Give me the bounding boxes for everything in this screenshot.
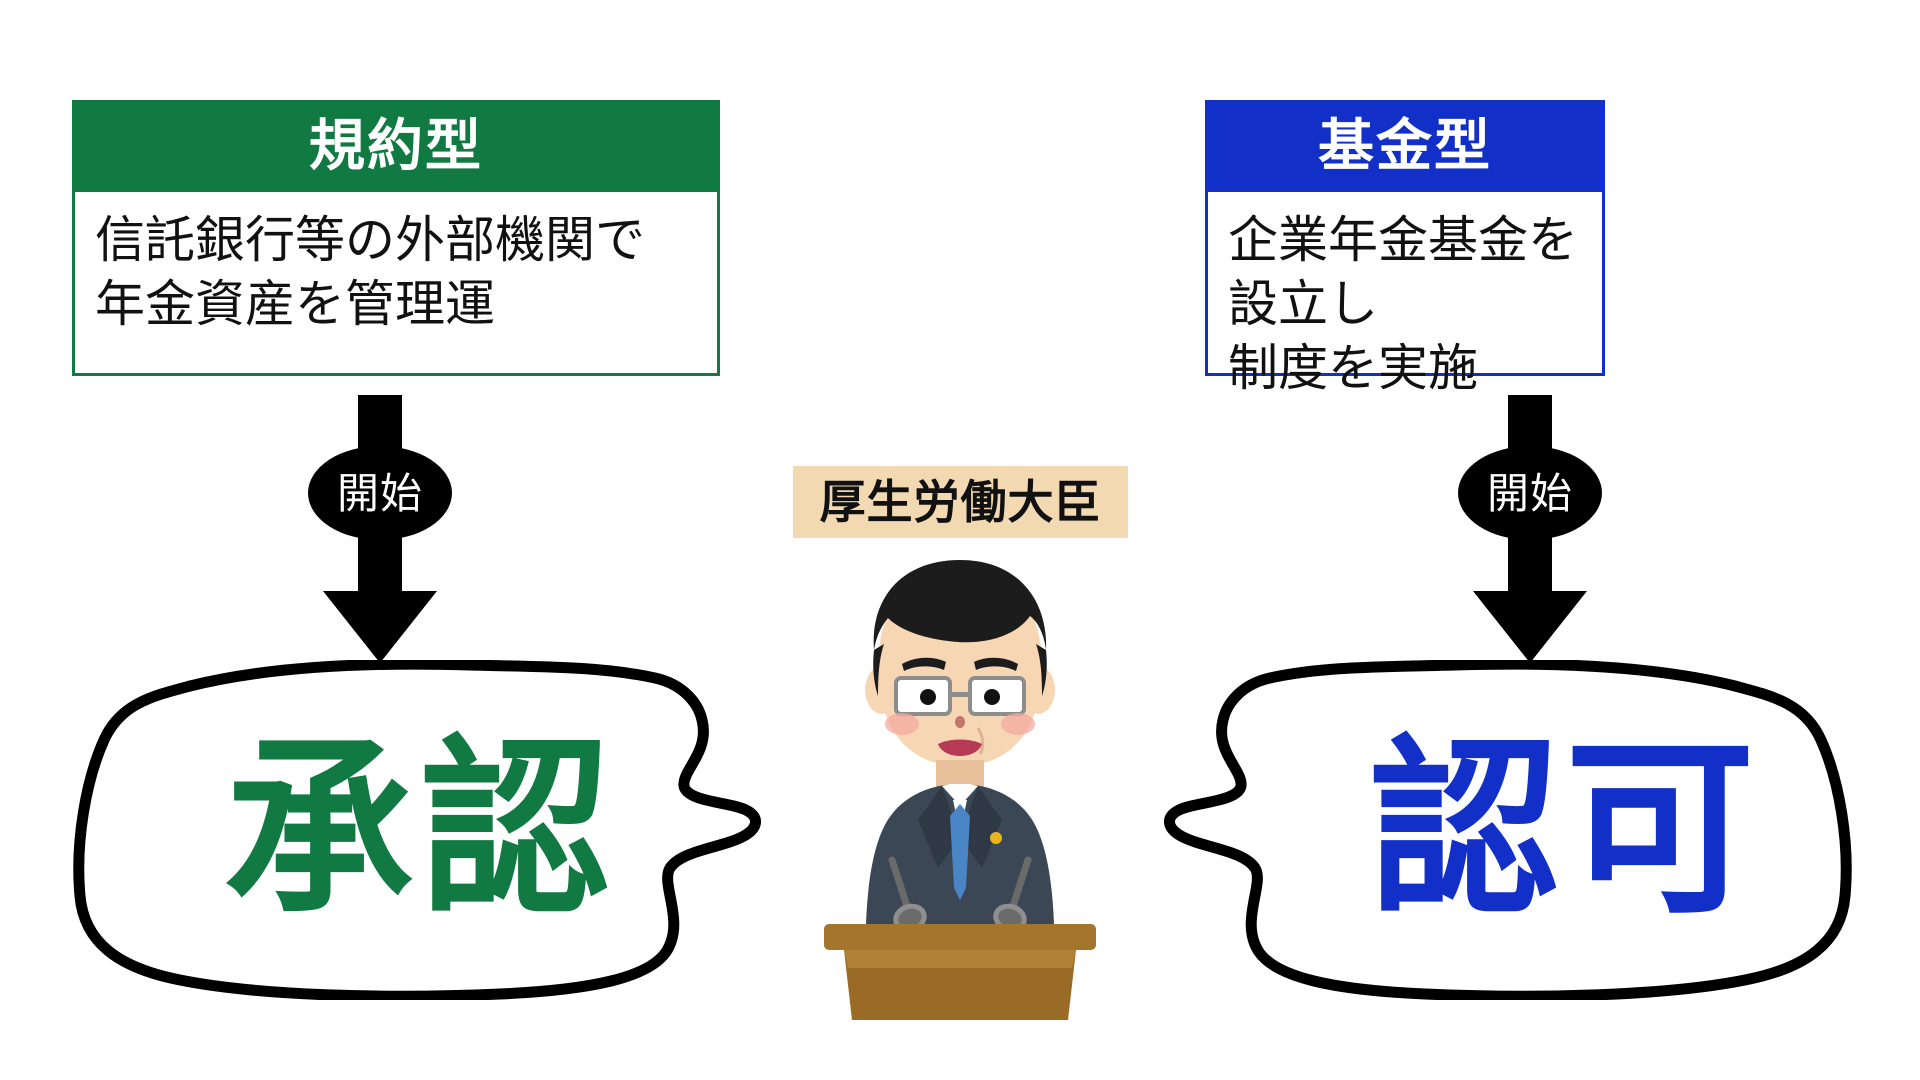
panel-kiyaku-header-label: 規約型 [309, 118, 483, 174]
panel-kiyaku-body: 信託銀行等の外部機関で 年金資産を管理運 [72, 192, 720, 376]
arrow-down-left: 開始 [305, 395, 455, 665]
diagram-canvas: 規約型 信託銀行等の外部機関で 年金資産を管理運 基金型 企業年金基金を設立し … [0, 0, 1920, 1080]
minister-at-podium-illustration [810, 538, 1110, 1028]
panel-kikin-header: 基金型 [1205, 100, 1605, 192]
speech-bubble-ninka: 認可 [1155, 660, 1855, 1000]
panel-kiyaku-header: 規約型 [72, 100, 720, 192]
panel-kiyaku-gata: 規約型 信託銀行等の外部機関で 年金資産を管理運 [72, 100, 720, 376]
panel-kikin-body: 企業年金基金を設立し 制度を実施 [1205, 192, 1605, 376]
minister-label-text: 厚生労働大臣 [820, 479, 1102, 525]
arrow-down-right: 開始 [1455, 395, 1605, 665]
minister-label-badge: 厚生労働大臣 [793, 466, 1128, 538]
panel-kikin-header-label: 基金型 [1318, 118, 1492, 174]
panel-kikin-gata: 基金型 企業年金基金を設立し 制度を実施 [1205, 100, 1605, 376]
speech-bubble-shonin: 承認 [70, 660, 770, 1000]
